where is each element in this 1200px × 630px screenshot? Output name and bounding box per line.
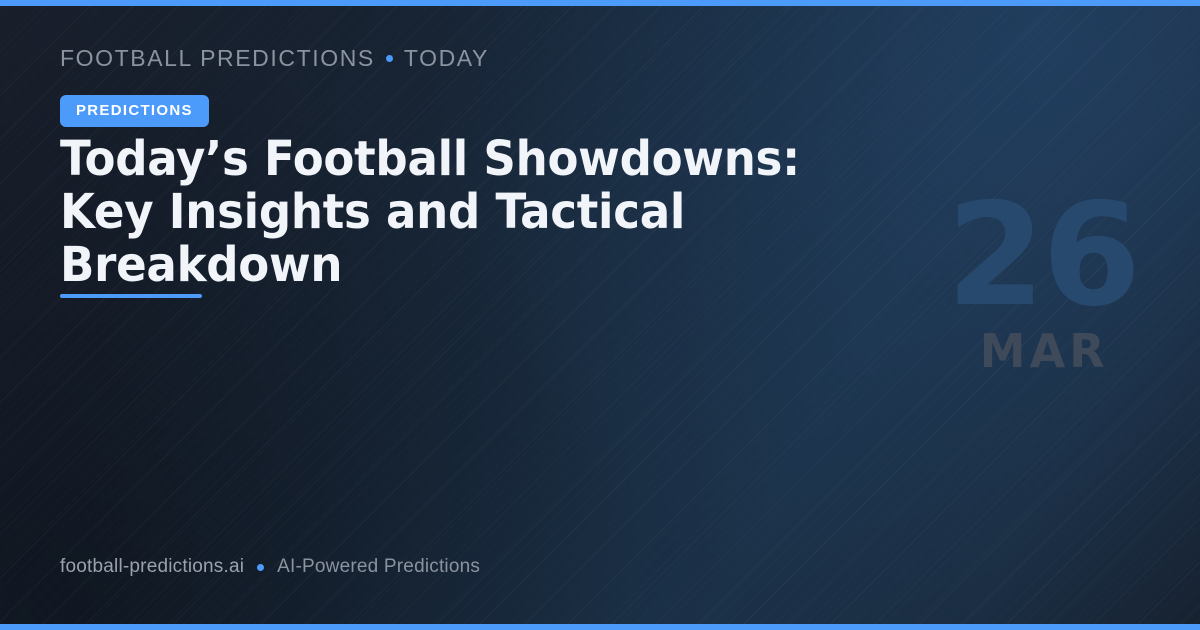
date-block: 26 MAR (946, 198, 1138, 374)
title-underline-rule (60, 294, 202, 298)
og-share-card: 26 MAR FOOTBALL PREDICTIONS TODAY PREDIC… (0, 0, 1200, 630)
bullet-dot-icon (386, 55, 393, 62)
footer-tagline: AI-Powered Predictions (277, 556, 480, 578)
bullet-dot-icon (257, 564, 264, 571)
accent-bar-top (0, 0, 1200, 6)
footer-site-name[interactable]: football-predictions.ai (60, 556, 244, 578)
kicker-category: FOOTBALL PREDICTIONS (60, 45, 375, 72)
kicker-timeframe: TODAY (404, 45, 489, 72)
category-badge[interactable]: PREDICTIONS (60, 95, 209, 127)
date-day: 26 (946, 198, 1138, 314)
accent-bar-bottom (0, 624, 1200, 630)
footer: football-predictions.ai AI-Powered Predi… (60, 556, 480, 578)
kicker: FOOTBALL PREDICTIONS TODAY (60, 45, 489, 72)
page-title: Today’s Football Showdowns: Key Insights… (60, 133, 897, 291)
